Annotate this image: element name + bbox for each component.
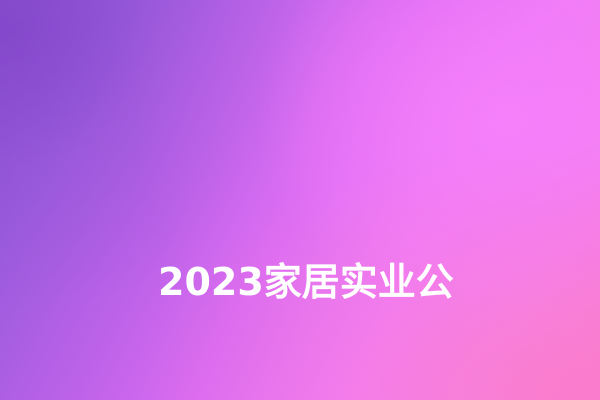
- page-title-line-1: 2023家居实业公: [158, 256, 458, 308]
- page-title: 2023家居实业公 司名字 这批很美观: [158, 152, 458, 400]
- title-card-canvas: 2023家居实业公 司名字 这批很美观: [0, 0, 600, 400]
